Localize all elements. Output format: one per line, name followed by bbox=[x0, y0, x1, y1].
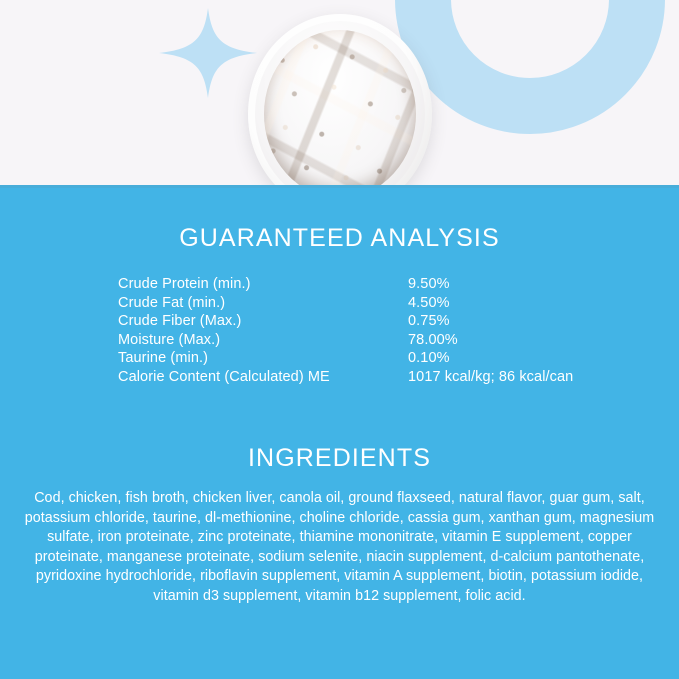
pet-food-bowl-image bbox=[248, 14, 432, 185]
hero-image-area bbox=[0, 0, 679, 185]
nutrient-label: Taurine (min.) bbox=[118, 350, 408, 366]
table-row: Taurine (min.) 0.10% bbox=[118, 350, 618, 369]
panel-top-divider bbox=[0, 185, 679, 188]
table-row: Calorie Content (Calculated) ME 1017 kca… bbox=[118, 369, 618, 388]
table-row: Moisture (Max.) 78.00% bbox=[118, 332, 618, 351]
nutrient-label: Crude Fat (min.) bbox=[118, 295, 408, 311]
table-row: Crude Protein (min.) 9.50% bbox=[118, 276, 618, 295]
nutrient-value: 0.75% bbox=[408, 313, 450, 329]
nutrient-value: 0.10% bbox=[408, 350, 450, 366]
table-row: Crude Fiber (Max.) 0.75% bbox=[118, 313, 618, 332]
guaranteed-analysis-table: Crude Protein (min.) 9.50% Crude Fat (mi… bbox=[118, 276, 618, 388]
nutrient-label: Calorie Content (Calculated) ME bbox=[118, 369, 408, 385]
nutrient-value: 1017 kcal/kg; 86 kcal/can bbox=[408, 369, 573, 385]
product-detail-panel: GUARANTEED ANALYSIS Crude Protein (min.)… bbox=[0, 0, 679, 679]
nutrient-label: Crude Protein (min.) bbox=[118, 276, 408, 292]
guaranteed-analysis-title: GUARANTEED ANALYSIS bbox=[0, 224, 679, 253]
sparkle-four-point-icon bbox=[159, 8, 257, 98]
ingredients-body-text: Cod, chicken, fish broth, chicken liver,… bbox=[24, 489, 655, 607]
pate-texture-speckles bbox=[264, 30, 416, 185]
nutrient-label: Crude Fiber (Max.) bbox=[118, 313, 408, 329]
nutrient-value: 9.50% bbox=[408, 276, 450, 292]
ingredients-title: INGREDIENTS bbox=[0, 444, 679, 473]
table-row: Crude Fat (min.) 4.50% bbox=[118, 295, 618, 314]
nutrient-value: 78.00% bbox=[408, 332, 458, 348]
nutrient-label: Moisture (Max.) bbox=[118, 332, 408, 348]
donut-ring-icon bbox=[395, 0, 665, 134]
nutrient-value: 4.50% bbox=[408, 295, 450, 311]
pate-food-surface bbox=[264, 30, 416, 185]
